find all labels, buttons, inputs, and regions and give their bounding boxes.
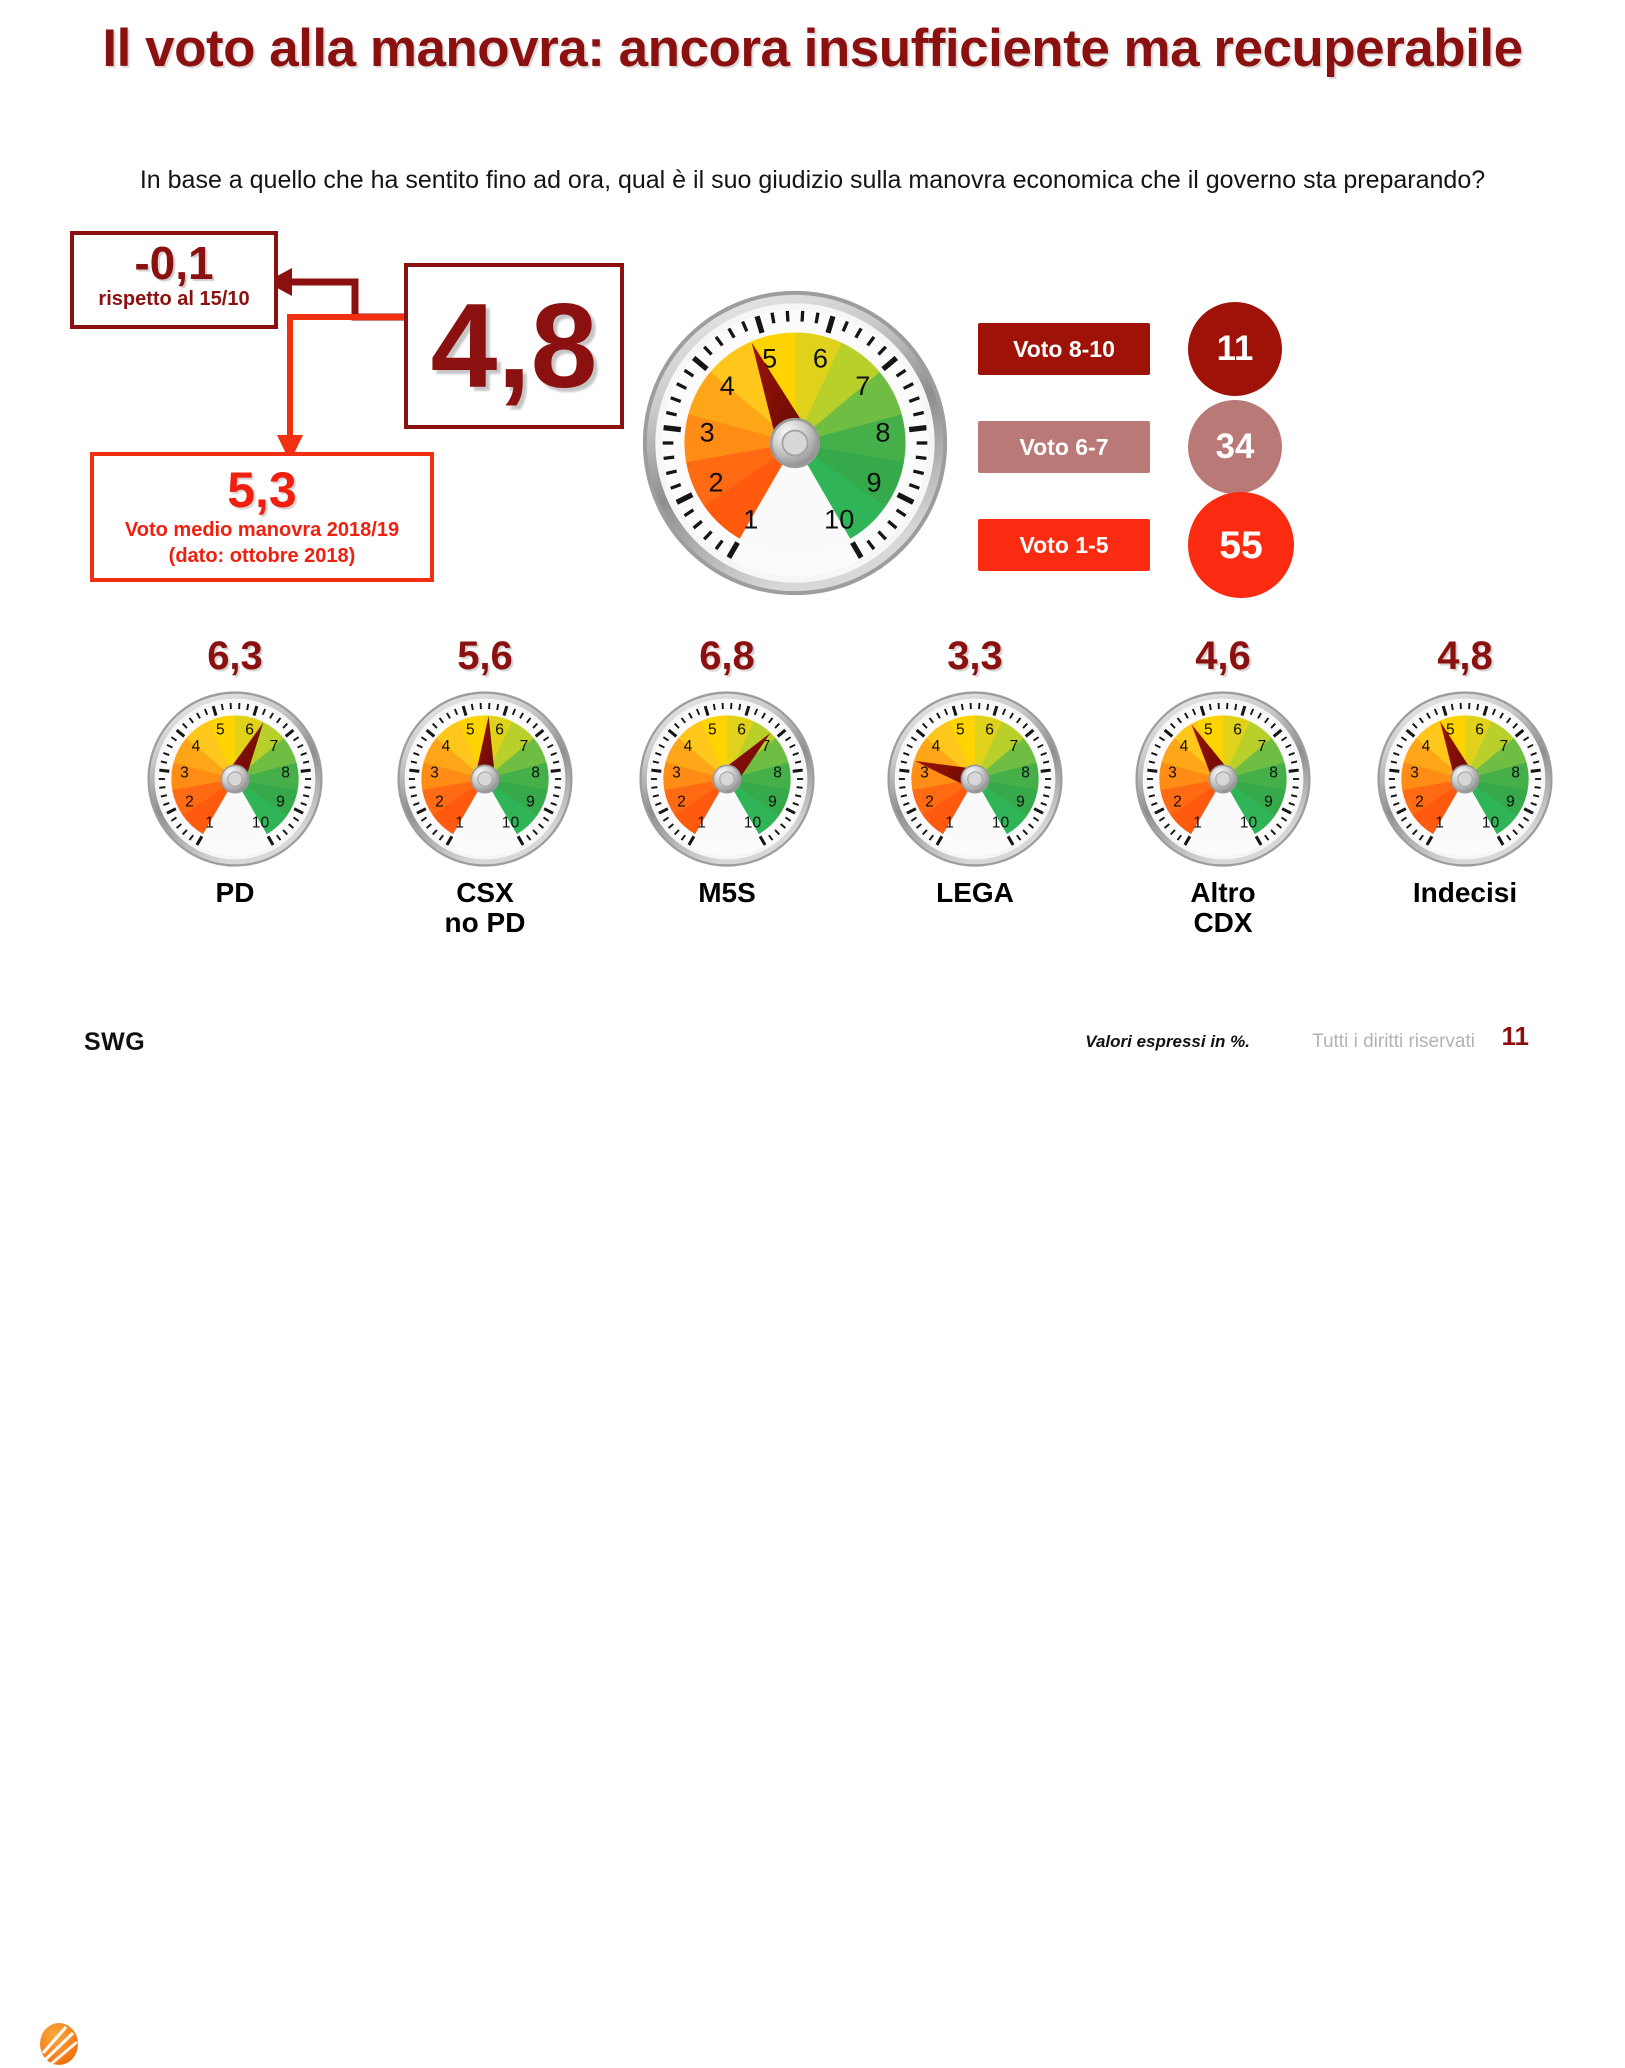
svg-text:9: 9 [768,793,777,810]
svg-text:10: 10 [1240,815,1258,832]
svg-text:9: 9 [276,793,285,810]
logo-wordmark: SWG [84,1028,145,1057]
legend-row: Voto 1-5 55 [978,496,1278,594]
svg-text:9: 9 [1016,793,1025,810]
svg-text:10: 10 [824,505,854,535]
svg-text:1: 1 [1435,815,1444,832]
svg-text:2: 2 [1415,793,1424,810]
footer-note: Valori espressi in %. [1085,1032,1250,1052]
party-gauge-pd: 6,3 12345678910 PD [110,636,360,908]
svg-text:3: 3 [672,765,681,782]
svg-text:3: 3 [1410,765,1419,782]
legend-value-circle-1: 34 [1188,400,1282,494]
svg-text:5: 5 [708,722,717,739]
svg-text:7: 7 [270,738,279,755]
svg-text:4: 4 [932,738,941,755]
svg-text:4: 4 [720,371,735,401]
callout-previous-score: 5,3 Voto medio manovra 2018/19 (dato: ot… [90,452,434,582]
legend-row: Voto 8-10 11 [978,300,1278,398]
svg-text:9: 9 [1506,793,1515,810]
svg-text:6: 6 [813,343,828,373]
svg-text:1: 1 [697,815,706,832]
svg-text:2: 2 [708,468,723,498]
svg-text:6: 6 [1233,722,1242,739]
party-gauge-lega: 3,3 12345678910 LEGA [850,636,1100,908]
svg-text:5: 5 [1204,722,1213,739]
party-gauge-label: Indecisi [1340,878,1590,908]
svg-text:6: 6 [1475,722,1484,739]
svg-text:4: 4 [684,738,693,755]
svg-text:8: 8 [1511,765,1520,782]
svg-text:1: 1 [743,505,758,535]
party-gauge-csx-no-pd: 5,6 12345678910 CSXno PD [360,636,610,938]
svg-text:2: 2 [1173,793,1182,810]
svg-text:3: 3 [430,765,439,782]
party-gauge-label: CSXno PD [360,878,610,938]
svg-text:1: 1 [205,815,214,832]
svg-text:2: 2 [677,793,686,810]
party-gauge-value: 6,8 [602,636,852,676]
party-gauge-value: 4,6 [1098,636,1348,676]
svg-text:2: 2 [925,793,934,810]
footer-rights: Tutti i diritti riservati [1312,1031,1475,1053]
party-gauge-label: PD [110,878,360,908]
svg-text:9: 9 [526,793,535,810]
previous-caption-line1: Voto medio manovra 2018/19 [94,518,430,543]
party-gauge-row: 6,3 12345678910 PD5,6 [0,636,1625,986]
svg-text:8: 8 [281,765,290,782]
slide-root: Il voto alla manovra: ancora insufficien… [0,0,1625,1125]
svg-text:8: 8 [1021,765,1030,782]
party-gauge-value: 4,8 [1340,636,1590,676]
delta-caption: rispetto al 15/10 [74,288,274,311]
svg-text:3: 3 [700,418,715,448]
party-gauge-m5s: 6,8 12345678910 M5S [602,636,852,908]
page-title: Il voto alla manovra: ancora insufficien… [0,18,1625,79]
vote-legend: Voto 8-10 11Voto 6-7 34Voto 1-5 55 [978,300,1278,594]
party-gauge-value: 5,6 [360,636,610,676]
svg-text:7: 7 [1010,738,1019,755]
party-gauge-value: 6,3 [110,636,360,676]
svg-text:4: 4 [442,738,451,755]
party-gauge-dial: 12345678910 [1340,684,1590,874]
svg-text:8: 8 [1269,765,1278,782]
party-gauge-dial: 12345678910 [360,684,610,874]
svg-text:9: 9 [867,468,882,498]
svg-text:10: 10 [1482,815,1500,832]
callout-main-score: 4,8 [404,263,624,429]
main-score-value: 4,8 [431,286,598,406]
svg-text:6: 6 [737,722,746,739]
svg-text:6: 6 [985,722,994,739]
party-gauge-label: AltroCDX [1098,878,1348,938]
svg-text:8: 8 [875,418,890,448]
svg-text:4: 4 [1422,738,1431,755]
previous-score-value: 5,3 [94,464,430,517]
legend-value-circle-0: 11 [1188,302,1282,396]
callout-delta: -0,1 rispetto al 15/10 [70,231,278,329]
svg-text:2: 2 [185,793,194,810]
svg-text:5: 5 [956,722,965,739]
svg-text:6: 6 [495,722,504,739]
svg-text:5: 5 [466,722,475,739]
party-gauge-dial: 12345678910 [1098,684,1348,874]
page-number: 11 [1502,1021,1530,1052]
svg-text:7: 7 [1500,738,1509,755]
svg-text:4: 4 [1180,738,1189,755]
svg-text:3: 3 [180,765,189,782]
svg-text:1: 1 [1193,815,1202,832]
party-gauge-indecisi: 4,8 12345678910 Indecisi [1340,636,1590,908]
main-gauge: 12345678910 [630,278,960,608]
svg-text:2: 2 [435,793,444,810]
svg-text:6: 6 [245,722,254,739]
party-gauge-altro-cdx: 4,6 12345678910 AltroCDX [1098,636,1348,938]
svg-text:9: 9 [1264,793,1273,810]
svg-text:8: 8 [531,765,540,782]
svg-text:5: 5 [216,722,225,739]
svg-text:10: 10 [992,815,1010,832]
svg-text:10: 10 [502,815,520,832]
svg-text:1: 1 [455,815,464,832]
party-gauge-label: LEGA [850,878,1100,908]
svg-text:7: 7 [1258,738,1267,755]
svg-text:7: 7 [855,371,870,401]
svg-text:10: 10 [252,815,270,832]
legend-row: Voto 6-7 34 [978,398,1278,496]
legend-value-circle-2: 55 [1188,492,1294,598]
svg-text:8: 8 [773,765,782,782]
svg-text:4: 4 [192,738,201,755]
svg-text:3: 3 [1168,765,1177,782]
party-gauge-dial: 12345678910 [602,684,852,874]
legend-pill-1[interactable]: Voto 6-7 [978,421,1150,473]
survey-question: In base a quello che ha sentito fino ad … [0,166,1625,195]
delta-value: -0,1 [74,240,274,286]
swg-logo-icon [36,2018,82,2068]
svg-text:10: 10 [744,815,762,832]
legend-pill-2[interactable]: Voto 1-5 [978,519,1150,571]
party-gauge-dial: 12345678910 [850,684,1100,874]
svg-text:1: 1 [945,815,954,832]
previous-caption-line2: (dato: ottobre 2018) [94,544,430,569]
party-gauge-dial: 12345678910 [110,684,360,874]
legend-pill-0[interactable]: Voto 8-10 [978,323,1150,375]
party-gauge-label: M5S [602,878,852,908]
svg-text:7: 7 [520,738,529,755]
party-gauge-value: 3,3 [850,636,1100,676]
